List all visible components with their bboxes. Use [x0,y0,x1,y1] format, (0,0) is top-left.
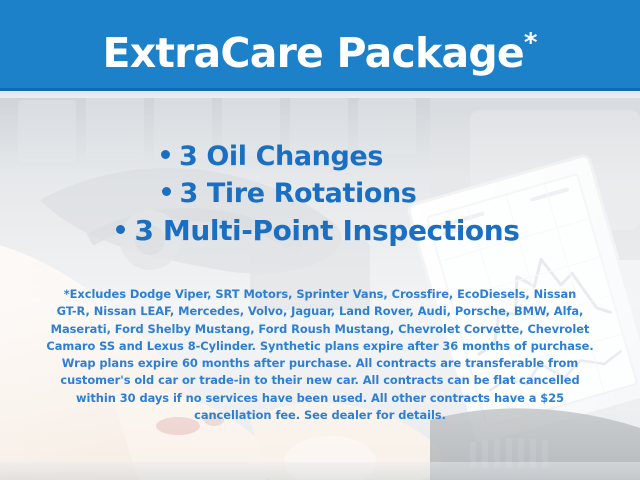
disclaimer-line: Wrap plans expire 60 months after purcha… [26,355,613,372]
disclaimer-line: GT-R, Nissan LEAF, Mercedes, Volvo, Jagu… [26,303,613,320]
page-title-text: ExtraCare Package [102,29,523,77]
bullet-icon [116,225,125,234]
bullet-icon [161,150,170,159]
page-title-asterisk: * [524,28,538,58]
extracare-package-banner: ExtraCare Package* 3 Oil Changes 3 Tire … [0,0,640,480]
benefit-label: 3 Multi-Point Inspections [134,214,519,247]
benefit-label: 3 Tire Rotations [180,178,417,209]
disclaimer-line: Camaro SS and Lexus 8-Cylinder. Syntheti… [26,338,613,355]
page-title: ExtraCare Package* [0,14,640,82]
disclaimer-line: customer's old car or trade-in to their … [26,372,613,389]
disclaimer-line: within 30 days if no services have been … [26,390,613,407]
disclaimer-line: Maserati, Ford Shelby Mustang, Ford Rous… [26,321,613,338]
benefit-label: 3 Oil Changes [179,141,383,172]
disclaimer-text: *Excludes Dodge Viper, SRT Motors, Sprin… [22,286,618,424]
disclaimer-line: cancellation fee. See dealer for details… [26,407,613,424]
header-under-strip [0,91,640,98]
bullet-icon [162,187,171,196]
benefits-list: 3 Oil Changes 3 Tire Rotations 3 Multi-P… [0,138,640,249]
benefit-item-oil-changes: 3 Oil Changes [0,138,640,175]
disclaimer-line: *Excludes Dodge Viper, SRT Motors, Sprin… [26,286,613,303]
benefit-item-multi-point-inspections: 3 Multi-Point Inspections [0,212,640,249]
benefit-item-tire-rotations: 3 Tire Rotations [0,175,640,212]
